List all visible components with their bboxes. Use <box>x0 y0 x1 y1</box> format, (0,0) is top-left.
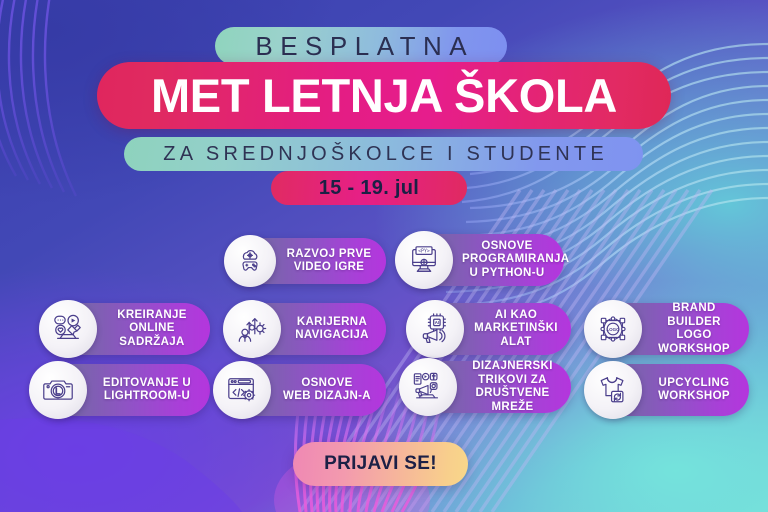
course-pill-ai-kao-marketinski-alat[interactable]: AI AI KAOMARKETINŠKI ALAT <box>411 303 571 355</box>
tshirt-upcycle-icon <box>584 361 642 419</box>
logo-vector-icon: LOGO <box>584 300 642 358</box>
dates-label: 15 - 19. jul <box>319 177 419 200</box>
course-pill-dizajnerski-trikovi-za-drustvene-mreze[interactable]: DIZAJNERSKITRIKOVI ZADRUŠTVENE MREŽE <box>404 361 571 413</box>
svg-text:<PY>: <PY> <box>418 248 430 254</box>
course-pill-karijerna-navigacija[interactable]: KARIJERNANAVIGACIJA <box>228 303 386 355</box>
badge-dates: 15 - 19. jul <box>271 171 467 205</box>
career-growth-icon <box>223 300 281 358</box>
course-pill-kreiranje-online-sadrzaja[interactable]: KREIRANJEONLINE SADRŽAJA <box>44 303 210 355</box>
course-pill-upcycling-workshop[interactable]: UPCYCLINGWORKSHOP <box>589 364 749 416</box>
python-monitor-icon: <PY> <box>395 231 453 289</box>
course-pill-razvoj-prve-video-igre[interactable]: RAZVOJ PRVEVIDEO IGRE <box>228 238 386 284</box>
content-creation-icon <box>39 300 97 358</box>
game-controller-icon <box>224 235 276 287</box>
svg-text:LOGO: LOGO <box>606 327 620 332</box>
subtitle-label: ZA SREDNJOŠKOLCE I STUDENTE <box>159 143 608 166</box>
page-title: MET LETNJA ŠKOLA <box>151 68 617 123</box>
apply-button-label: PRIJAVI SE! <box>324 453 437 475</box>
ai-megaphone-icon: AI <box>406 300 464 358</box>
title-banner: MET LETNJA ŠKOLA <box>97 62 671 129</box>
svg-text:AI: AI <box>435 320 439 325</box>
badge-subtitle: ZA SREDNJOŠKOLCE I STUDENTE <box>124 137 643 171</box>
social-media-design-icon <box>399 358 457 416</box>
badge-free: BESPLATNA <box>215 27 507 65</box>
course-pill-brand-builder-logo-workshop[interactable]: LOGO BRAND BUILDERLOGO WORKSHOP <box>589 303 749 355</box>
web-design-icon <box>213 361 271 419</box>
badge-free-label: BESPLATNA <box>248 31 474 62</box>
course-pill-osnove-programiranja-u-python-u[interactable]: <PY> OSNOVEPROGRAMIRANJAU PYTHON-U <box>400 234 564 286</box>
lightroom-camera-icon <box>29 361 87 419</box>
course-pill-editovanje-u-lightroom-u[interactable]: EDITOVANJE ULIGHTROOM-U <box>34 364 210 416</box>
course-pill-osnove-web-dizajn-a[interactable]: OSNOVEWEB DIZAJN-A <box>218 364 386 416</box>
poster-canvas: BESPLATNA MET LETNJA ŠKOLA ZA SREDNJOŠKO… <box>0 0 768 512</box>
apply-button[interactable]: PRIJAVI SE! <box>293 442 468 486</box>
